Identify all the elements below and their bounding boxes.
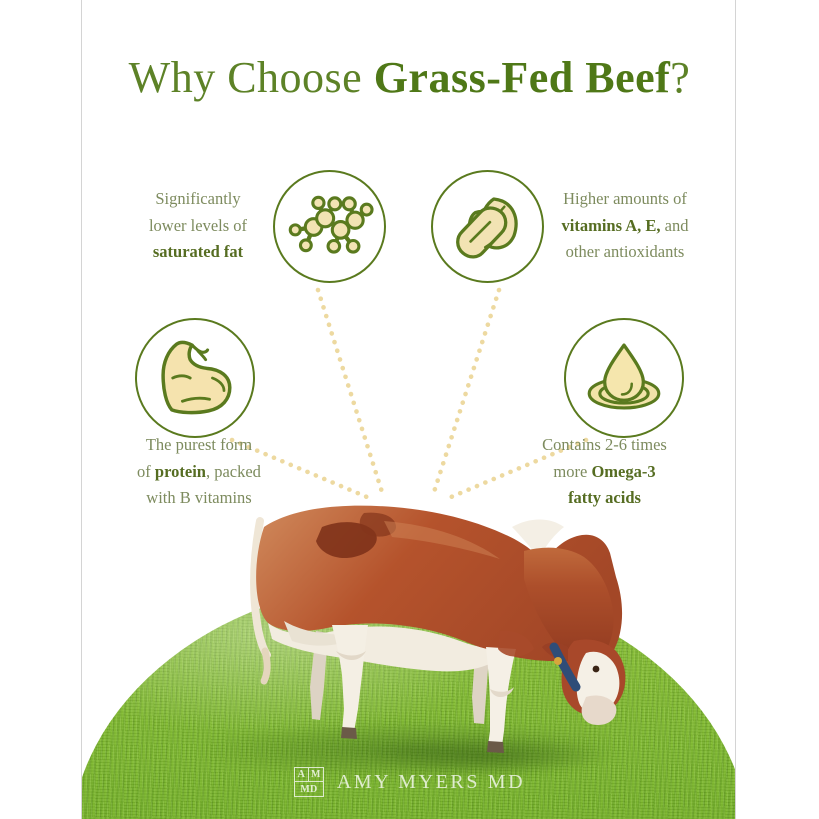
benefit-emphasis: vitamins A, E, — [562, 216, 661, 235]
page-title-strong: Grass-Fed Beef — [374, 53, 671, 102]
benefit-line: more Omega-3 — [502, 459, 707, 486]
cow-illustration — [224, 491, 656, 761]
benefit-emphasis: protein — [155, 462, 206, 481]
logo-letter-m: M — [309, 768, 323, 782]
benefit-line-tail: , packed — [206, 462, 261, 481]
benefit-emphasis: saturated fat — [153, 242, 243, 261]
benefit-line: Higher amounts of — [534, 186, 716, 213]
benefit-emphasis: Omega-3 — [591, 462, 655, 481]
benefit-line: vitamins A, E, and — [534, 213, 716, 240]
connector-saturated-fat — [318, 290, 382, 492]
infographic-root: Why Choose Grass-Fed Beef? — [0, 0, 819, 819]
benefit-line-lead: of — [137, 462, 155, 481]
page-title: Why Choose Grass-Fed Beef? — [82, 52, 736, 103]
logo-letter-a: A — [295, 768, 309, 782]
benefit-line: other antioxidants — [534, 239, 716, 266]
connector-vitamins — [434, 290, 499, 492]
brand-logo: A M MD AMY MYERS MD — [82, 767, 736, 797]
benefit-line: of protein, packed — [104, 459, 294, 486]
benefit-line: lower levels of — [112, 213, 284, 240]
logo-letters-md: MD — [295, 782, 323, 796]
capsule-leaf-icon — [431, 170, 544, 283]
benefit-line: Significantly — [112, 186, 284, 213]
benefit-line-lead: more — [553, 462, 591, 481]
benefit-line-tail: and — [661, 216, 689, 235]
logo-monogram-icon: A M MD — [294, 767, 324, 797]
benefit-line: Contains 2-6 times — [502, 432, 707, 459]
benefit-line: The purest form — [104, 432, 294, 459]
cow-photo: A M MD AMY MYERS MD — [82, 489, 736, 819]
flexed-bicep-icon — [135, 318, 255, 438]
oil-droplet-icon — [564, 318, 684, 438]
molecule-icon — [273, 170, 386, 283]
benefit-text-vitamins: Higher amounts of vitamins A, E, and oth… — [534, 186, 716, 266]
logo-wordmark: AMY MYERS MD — [337, 771, 525, 794]
page-title-light: Why Choose — [129, 53, 374, 102]
page-title-question-mark: ? — [670, 53, 690, 102]
infographic-card: Why Choose Grass-Fed Beef? — [81, 0, 736, 819]
benefit-line: saturated fat — [112, 239, 284, 266]
benefit-text-saturated-fat: Significantly lower levels of saturated … — [112, 186, 284, 266]
